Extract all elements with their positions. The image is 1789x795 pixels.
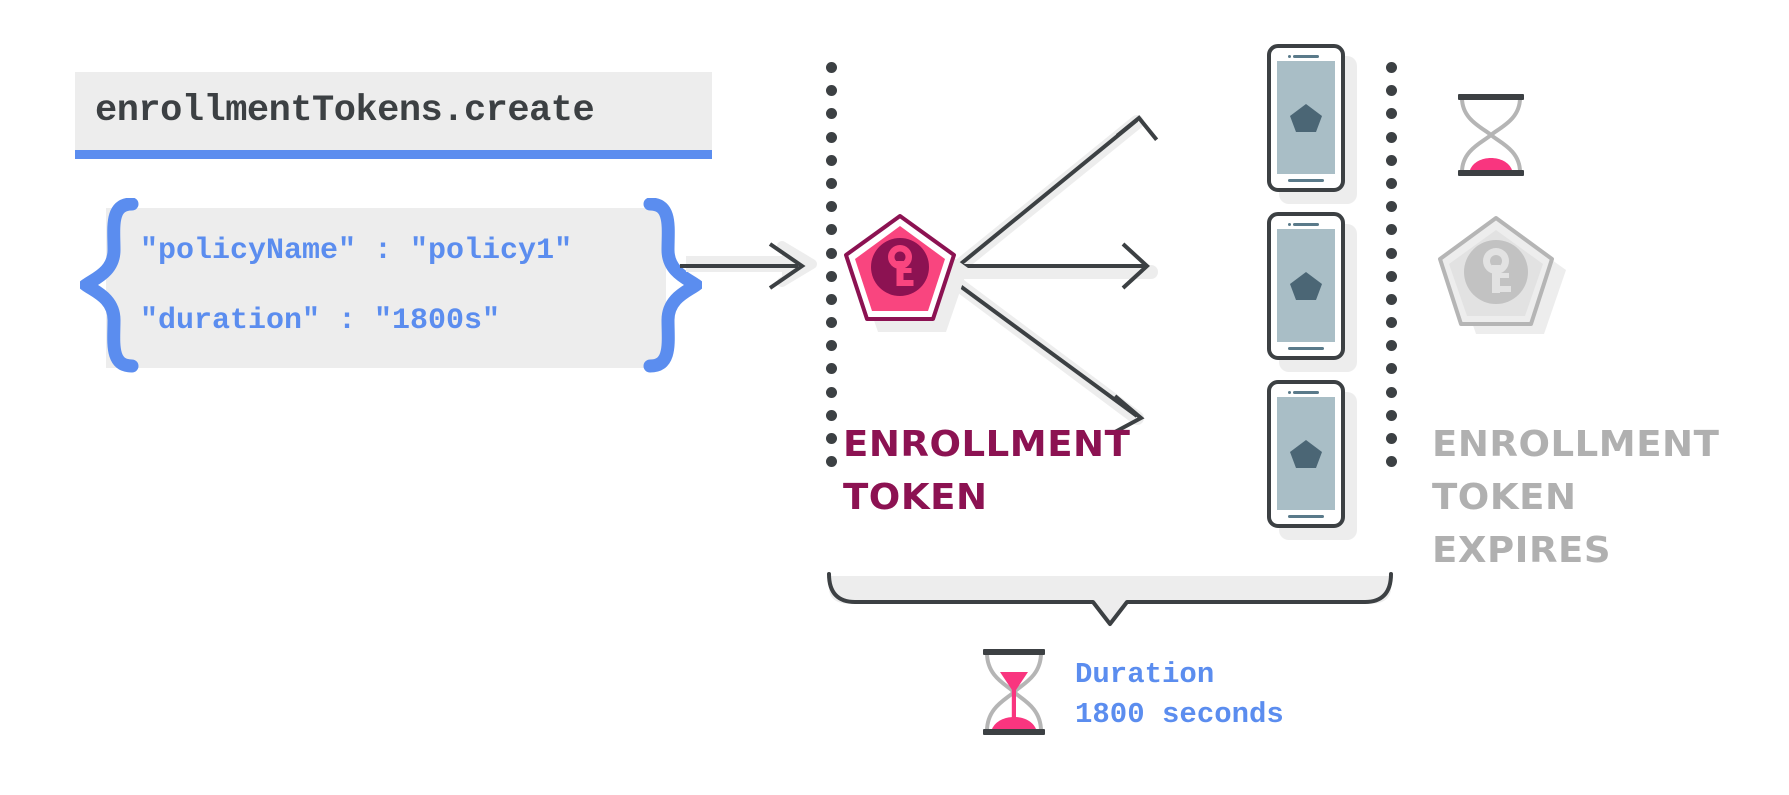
dot (826, 132, 837, 143)
device-screen (1277, 397, 1335, 510)
dot (1386, 294, 1397, 305)
phone-camera-dot (1288, 55, 1291, 58)
dot (826, 155, 837, 166)
dot (826, 178, 837, 189)
request-body-lines: "policyName" : "policy1" "duration" : "1… (140, 216, 572, 356)
dot (1386, 224, 1397, 235)
pentagon-icon (1289, 102, 1323, 134)
request-body-line-1: "duration" : "1800s" (140, 286, 572, 356)
device-screen (1277, 229, 1335, 342)
phone-home-indicator (1288, 515, 1324, 518)
enrollment-token-label-line1: ENROLLMENT (843, 418, 1152, 471)
device-3 (1267, 380, 1349, 535)
phone-camera-dot (1288, 223, 1291, 226)
dot (1386, 387, 1397, 398)
hourglass-icon-duration (975, 645, 1053, 740)
dot (1386, 340, 1397, 351)
dot (1386, 132, 1397, 143)
dot (826, 62, 837, 73)
phone-speaker (1293, 55, 1319, 58)
phone-icon (1267, 44, 1345, 192)
phone-icon (1267, 212, 1345, 360)
dot (826, 85, 837, 96)
pentagon-icon (1289, 270, 1323, 302)
phone-speaker (1293, 223, 1319, 226)
dot (826, 224, 837, 235)
duration-text-block: Duration 1800 seconds (1075, 655, 1284, 735)
dot (826, 410, 837, 421)
duration-title: Duration (1075, 655, 1284, 695)
dot (1386, 178, 1397, 189)
request-flow-arrow-icon (680, 238, 830, 298)
expires-label-line1: ENROLLMENT (1432, 418, 1772, 471)
dot (1386, 317, 1397, 328)
api-method-header: enrollmentTokens.create (75, 72, 712, 150)
dot (1386, 108, 1397, 119)
device-2 (1267, 212, 1349, 367)
dot (1386, 433, 1397, 444)
duration-span-brace (825, 570, 1395, 630)
dot (1386, 363, 1397, 374)
dot (826, 294, 837, 305)
pentagon-icon (1289, 438, 1323, 470)
phone-home-indicator (1288, 347, 1324, 350)
phone-speaker (1293, 391, 1319, 394)
dot (826, 387, 837, 398)
dotted-divider-right (1386, 62, 1397, 479)
dot (826, 317, 837, 328)
enrollment-token-icon (840, 212, 970, 334)
dot (826, 363, 837, 374)
phone-home-indicator (1288, 179, 1324, 182)
dot (826, 201, 837, 212)
expires-label-line2: TOKEN (1432, 471, 1772, 524)
expires-label-line3: EXPIRES (1432, 524, 1772, 577)
enrollment-token-label: ENROLLMENT TOKEN (843, 418, 1152, 524)
dot (1386, 410, 1397, 421)
phone-icon (1267, 380, 1345, 528)
dot (826, 271, 837, 282)
dot (1386, 271, 1397, 282)
dot (826, 433, 837, 444)
dot (826, 108, 837, 119)
phone-camera-dot (1288, 391, 1291, 394)
dot (1386, 201, 1397, 212)
enrollment-token-expired-icon (1430, 212, 1570, 342)
dot (1386, 85, 1397, 96)
dotted-divider-left (826, 62, 837, 479)
dot (826, 340, 837, 351)
api-method-label: enrollmentTokens.create (95, 90, 594, 132)
dot (1386, 62, 1397, 73)
hourglass-icon-expired (1450, 90, 1532, 180)
enrollment-token-label-line2: TOKEN (843, 471, 1152, 524)
device-screen (1277, 61, 1335, 174)
diagram-canvas: enrollmentTokens.create "policyName" : "… (0, 0, 1789, 795)
dot (1386, 248, 1397, 259)
enrollment-token-expires-label: ENROLLMENT TOKEN EXPIRES (1432, 418, 1772, 577)
dot (826, 248, 837, 259)
request-body-line-0: "policyName" : "policy1" (140, 216, 572, 286)
dot (826, 456, 837, 467)
dot (1386, 456, 1397, 467)
duration-value: 1800 seconds (1075, 695, 1284, 735)
device-1 (1267, 44, 1349, 199)
api-header-underline (75, 150, 712, 159)
request-body-block: "policyName" : "policy1" "duration" : "1… (80, 198, 720, 373)
dot (1386, 155, 1397, 166)
